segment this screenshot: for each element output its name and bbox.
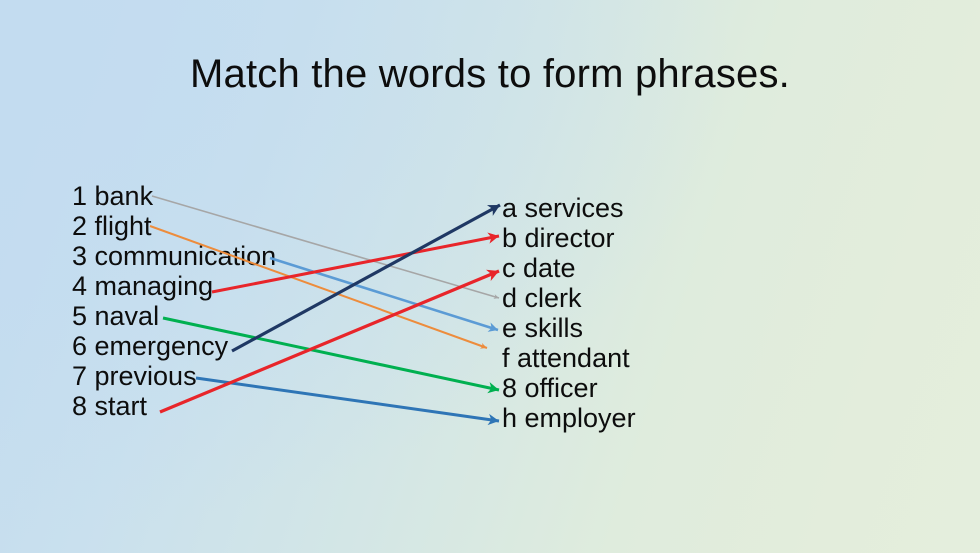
right-item-b[interactable]: b director bbox=[502, 223, 636, 253]
left-item-5[interactable]: 5 naval bbox=[72, 301, 276, 331]
connector-communication-to-skills bbox=[270, 258, 498, 330]
right-item-e[interactable]: e skills bbox=[502, 313, 636, 343]
right-item-d[interactable]: d clerk bbox=[502, 283, 636, 313]
left-item-7[interactable]: 7 previous bbox=[72, 361, 276, 391]
right-word-column: a services b director c date d clerk e s… bbox=[502, 193, 636, 433]
page-title: Match the words to form phrases. bbox=[0, 52, 980, 97]
left-item-8[interactable]: 8 start bbox=[72, 391, 276, 421]
right-item-a[interactable]: a services bbox=[502, 193, 636, 223]
right-item-g[interactable]: 8 officer bbox=[502, 373, 636, 403]
right-item-f[interactable]: f attendant bbox=[502, 343, 636, 373]
left-item-3[interactable]: 3 communication bbox=[72, 241, 276, 271]
left-item-2[interactable]: 2 flight bbox=[72, 211, 276, 241]
slide-canvas: Match the words to form phrases. 1 bank … bbox=[0, 0, 980, 553]
right-item-c[interactable]: c date bbox=[502, 253, 636, 283]
left-word-column: 1 bank 2 flight 3 communication 4 managi… bbox=[72, 181, 276, 421]
right-item-h[interactable]: h employer bbox=[502, 403, 636, 433]
left-item-4[interactable]: 4 managing bbox=[72, 271, 276, 301]
left-item-1[interactable]: 1 bank bbox=[72, 181, 276, 211]
left-item-6[interactable]: 6 emergency bbox=[72, 331, 276, 361]
